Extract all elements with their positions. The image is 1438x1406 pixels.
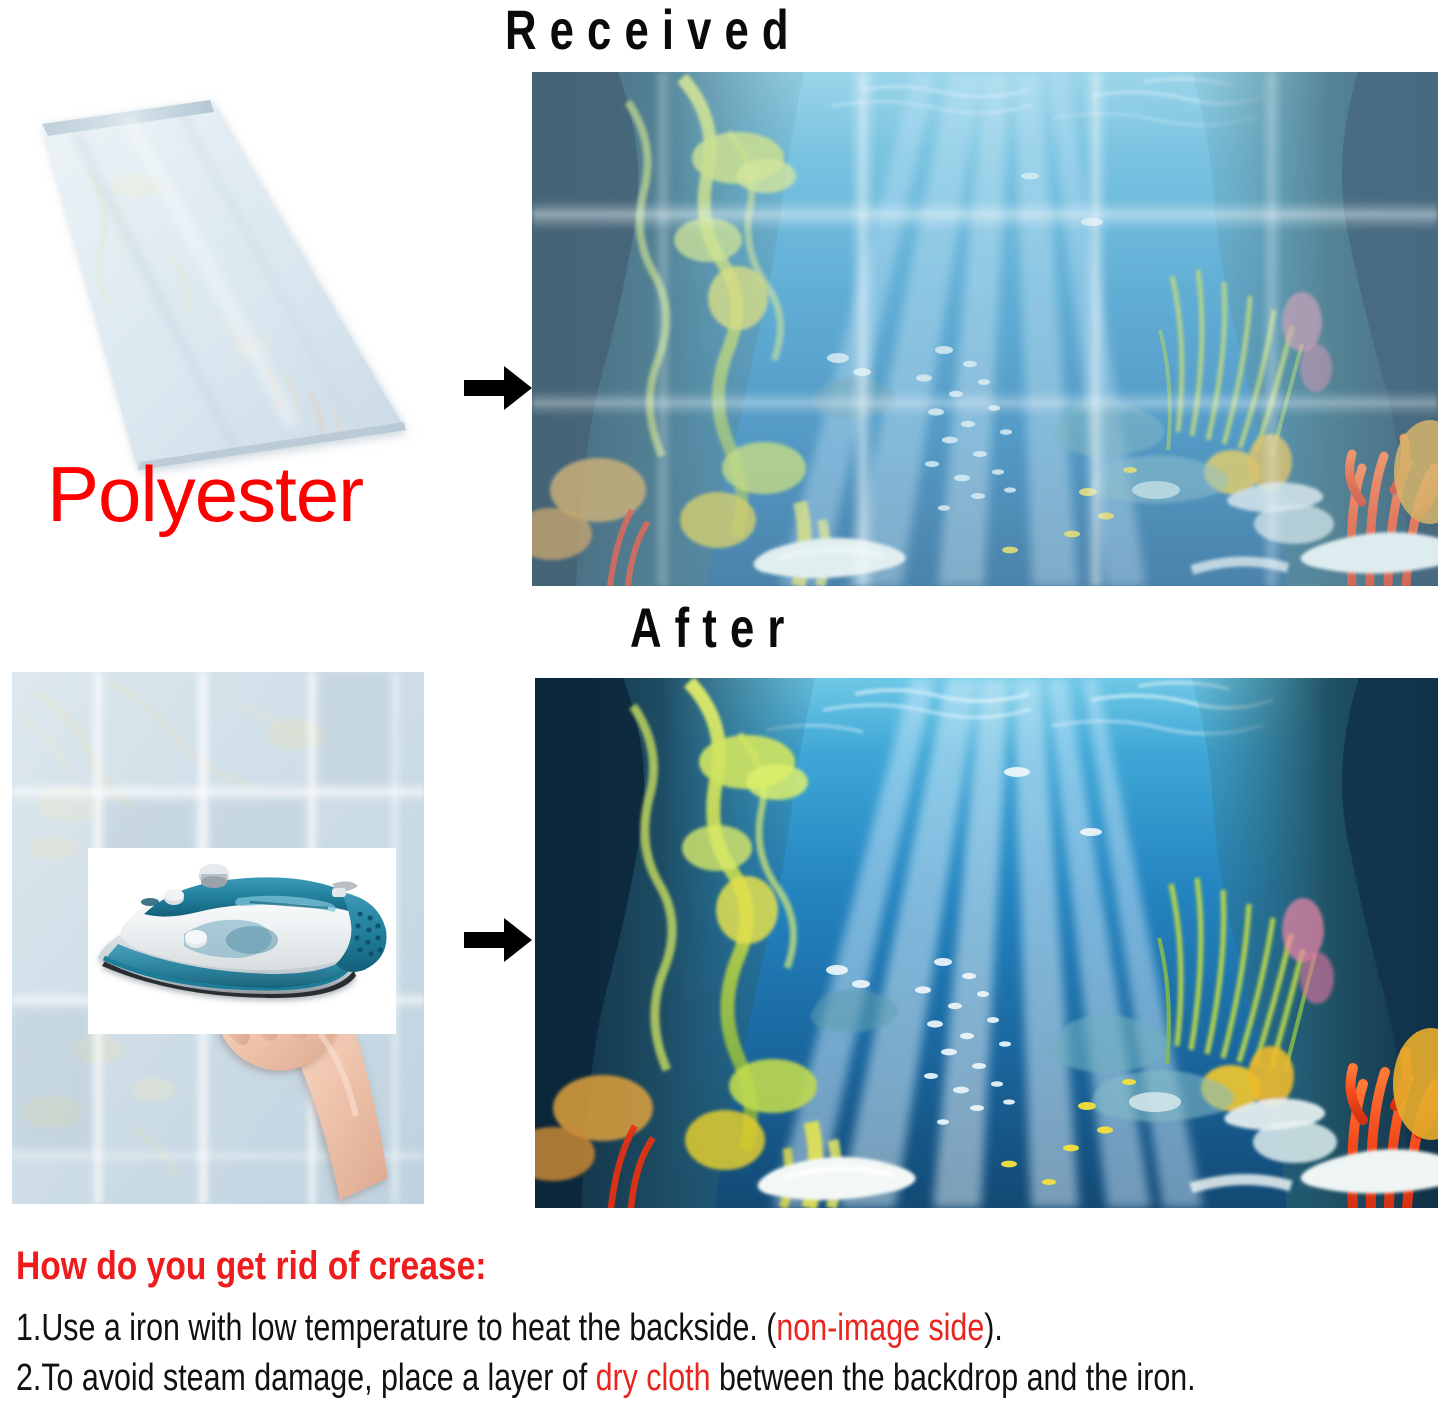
right-arrow-icon — [464, 918, 532, 962]
right-arrow-icon — [464, 366, 532, 410]
step1-highlight: non-image side — [776, 1307, 984, 1349]
instruction-step-2: 2.To avoid steam damage, place a layer o… — [16, 1355, 1152, 1401]
step2-highlight: dry cloth — [596, 1357, 711, 1399]
care-instructions-block: How do you get rid of crease: 1.Use a ir… — [16, 1244, 1436, 1406]
step2-text-after: between the backdrop and the iron. — [711, 1357, 1196, 1399]
instruction-step-1: 1.Use a iron with low temperature to hea… — [16, 1305, 1152, 1351]
steam-iron-photo — [88, 848, 396, 1034]
received-section-title: Received — [505, 2, 802, 58]
received-backdrop-image — [532, 72, 1438, 586]
instructions-heading: How do you get rid of crease: — [16, 1244, 1209, 1289]
step1-text-before: 1.Use a iron with low temperature to hea… — [16, 1307, 776, 1349]
polyester-material-label: Polyester — [47, 455, 363, 533]
folded-polyester-fabric-sample — [18, 78, 422, 484]
after-section-title: After — [630, 600, 797, 656]
step1-text-after: ). — [984, 1307, 1003, 1349]
after-backdrop-image — [535, 678, 1438, 1208]
step2-text-before: 2.To avoid steam damage, place a layer o… — [16, 1357, 596, 1399]
